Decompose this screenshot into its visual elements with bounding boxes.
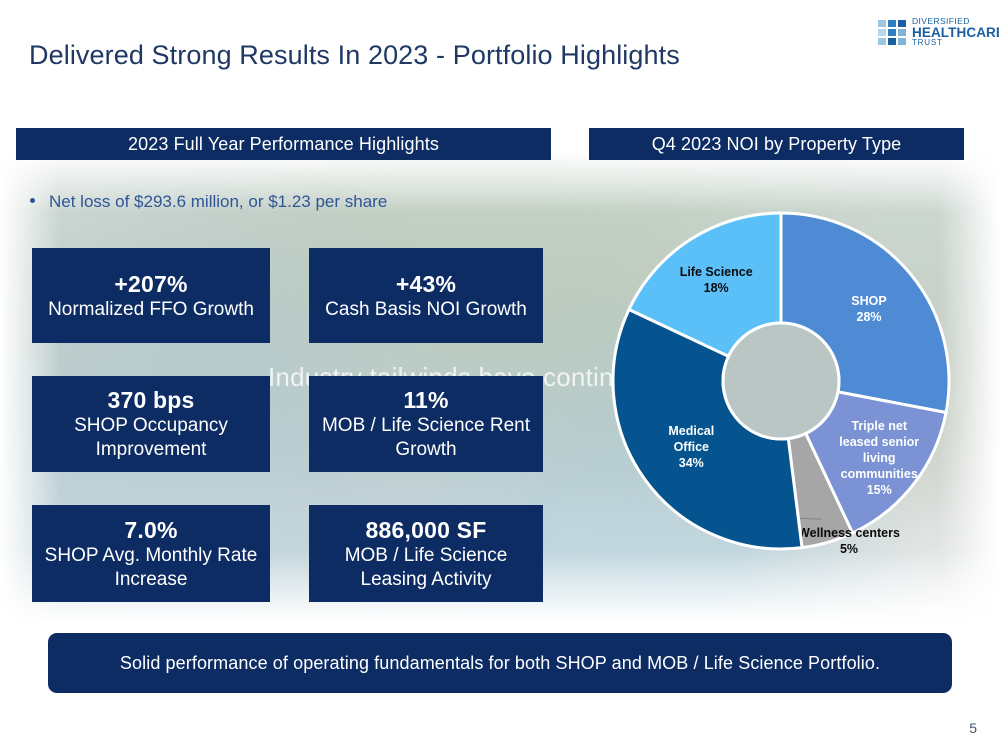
page-number: 5	[969, 720, 977, 736]
donut-label-life-science-line-0: Life Science	[680, 265, 753, 279]
metric-value: +207%	[114, 270, 187, 298]
donut-label-shop-line-0: SHOP	[851, 294, 886, 308]
donut-center-hole	[723, 323, 839, 439]
metric-label: Cash Basis NOI Growth	[325, 298, 527, 322]
logo-square-4	[888, 29, 896, 36]
metric-value: +43%	[396, 270, 456, 298]
donut-percent-wellness-centers: 5%	[840, 542, 858, 556]
donut-label-triple-net-leased-senior-living-communities-line-4: 15%	[867, 483, 892, 497]
company-logo: DIVERSIFIED HEALTHCARE TRUST	[878, 17, 999, 48]
noi-by-property-type-donut-chart: SHOP28%Triple netleased seniorlivingcomm…	[596, 196, 966, 566]
donut-label-triple-net-leased-senior-living-communities-line-0: Triple net	[851, 419, 907, 433]
metric-value: 886,000 SF	[366, 516, 487, 544]
metric-card-cash-basis-noi-growth: +43% Cash Basis NOI Growth	[309, 248, 543, 343]
donut-label-medical-office-line-1: Office	[674, 440, 709, 454]
donut-label-life-science-line-1: 18%	[704, 281, 729, 295]
donut-label-triple-net-leased-senior-living-communities-line-2: living	[863, 451, 896, 465]
donut-label-medical-office-line-2: 34%	[679, 456, 704, 470]
metric-card-normalized-ffo-growth: +207% Normalized FFO Growth	[32, 248, 270, 343]
metric-label: SHOP Occupancy Improvement	[40, 414, 262, 462]
right-panel-header: Q4 2023 NOI by Property Type	[589, 128, 964, 160]
logo-line-3: TRUST	[912, 39, 999, 47]
metric-label: MOB / Life Science Rent Growth	[317, 414, 535, 462]
metric-card-shop-avg-monthly-rate-increase: 7.0% SHOP Avg. Monthly Rate Increase	[32, 505, 270, 602]
logo-square-8	[898, 38, 906, 45]
logo-grid-icon	[878, 20, 906, 45]
metric-card-shop-occupancy-improvement: 370 bps SHOP Occupancy Improvement	[32, 376, 270, 472]
left-panel-header: 2023 Full Year Performance Highlights	[16, 128, 551, 160]
donut-label-shop-line-1: 28%	[857, 310, 882, 324]
logo-square-6	[878, 38, 886, 45]
logo-square-7	[888, 38, 896, 45]
logo-square-2	[898, 20, 906, 27]
logo-line-2: HEALTHCARE	[912, 26, 999, 40]
page-title: Delivered Strong Results In 2023 - Portf…	[29, 40, 680, 71]
metric-value: 11%	[403, 386, 448, 414]
logo-square-0	[878, 20, 886, 27]
donut-label-triple-net-leased-senior-living-communities-line-1: leased senior	[839, 435, 919, 449]
logo-square-5	[898, 29, 906, 36]
donut-label-triple-net-leased-senior-living-communities-line-3: communities	[841, 467, 918, 481]
summary-banner: Solid performance of operating fundament…	[48, 633, 952, 693]
donut-label-medical-office-line-0: Medical	[668, 424, 714, 438]
bullet-item-net-loss: Net loss of $293.6 million, or $1.23 per…	[30, 192, 387, 212]
donut-chart-svg: SHOP28%Triple netleased seniorlivingcomm…	[596, 196, 966, 566]
logo-square-1	[888, 20, 896, 27]
metric-card-mob-life-science-leasing-activity: 886,000 SF MOB / Life Science Leasing Ac…	[309, 505, 543, 602]
logo-wordmark: DIVERSIFIED HEALTHCARE TRUST	[912, 17, 999, 48]
metric-label: Normalized FFO Growth	[48, 298, 254, 322]
metric-value: 7.0%	[124, 516, 177, 544]
logo-square-3	[878, 29, 886, 36]
metric-label: MOB / Life Science Leasing Activity	[317, 544, 535, 592]
donut-label-wellness-centers: Wellness centers	[798, 526, 900, 540]
metric-label: SHOP Avg. Monthly Rate Increase	[40, 544, 262, 592]
metric-card-mob-life-science-rent-growth: 11% MOB / Life Science Rent Growth	[309, 376, 543, 472]
bullet-dot-icon	[30, 198, 35, 203]
bullet-text: Net loss of $293.6 million, or $1.23 per…	[49, 192, 387, 212]
slide-canvas: Industry tailwinds have continued FIGURE…	[0, 0, 999, 750]
metric-value: 370 bps	[107, 386, 194, 414]
